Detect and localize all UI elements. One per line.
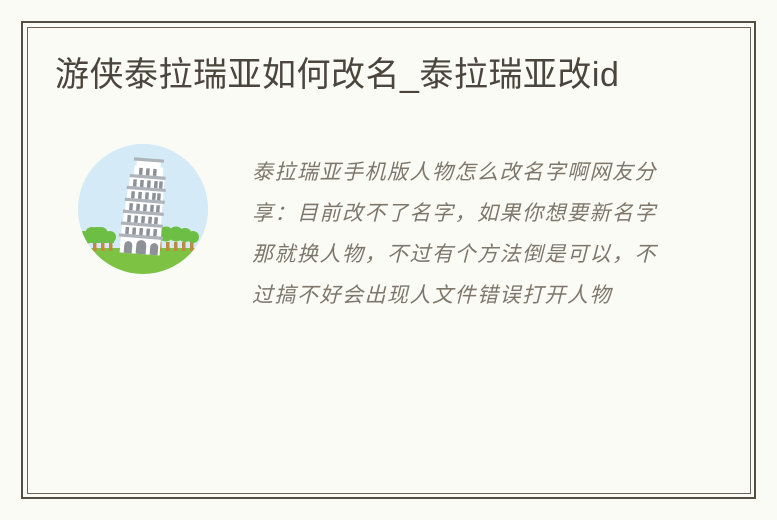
article-body-row: 泰拉瑞亚手机版人物怎么改名字啊网友分享：目前改不了名字，如果你想要新名字那就换人… [55,144,715,316]
leaning-tower-of-pisa-icon [78,144,208,274]
article-body-text: 泰拉瑞亚手机版人物怎么改名字啊网友分享：目前改不了名字，如果你想要新名字那就换人… [252,152,672,316]
article-thumbnail[interactable] [78,144,208,274]
article-content: 游侠泰拉瑞亚如何改名_泰拉瑞亚改id [55,52,715,316]
page-title: 游侠泰拉瑞亚如何改名_泰拉瑞亚改id [55,52,675,99]
page-root: 游侠泰拉瑞亚如何改名_泰拉瑞亚改id [0,0,777,520]
